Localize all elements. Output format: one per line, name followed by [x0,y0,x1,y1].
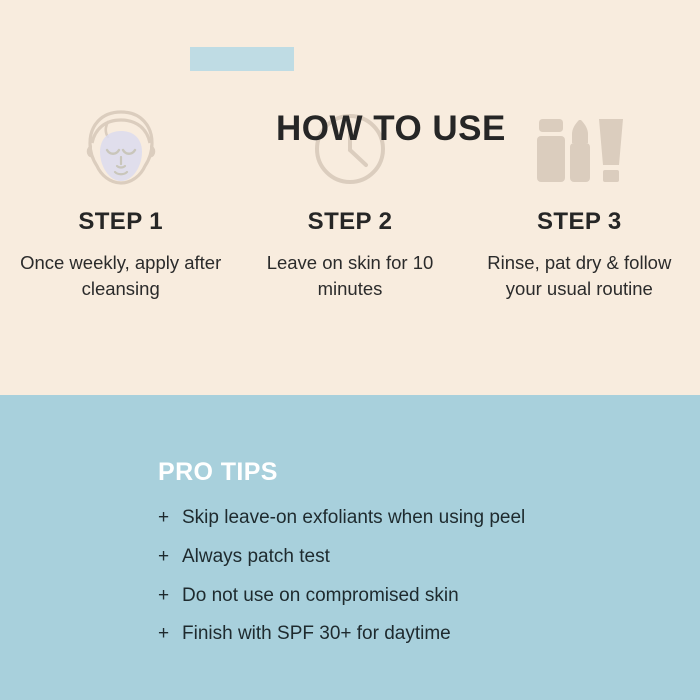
plus-bullet-icon: + [158,585,182,608]
step-1-heading: STEP 1 [12,208,229,236]
step-2-heading: STEP 2 [241,208,458,236]
page-title-text: HOW TO USE [276,109,506,148]
page-title-inner: HOW TO USE [194,41,506,181]
pro-tip-item: + Do not use on compromised skin [158,585,660,608]
pro-tip-text: Do not use on compromised skin [182,585,459,608]
page-title: HOW TO USE [0,41,700,81]
pro-tips-title: PRO TIPS [158,458,660,487]
plus-bullet-icon: + [158,507,182,530]
step-3-heading: STEP 3 [471,208,688,236]
title-highlight-bar [190,47,294,71]
pro-tips-inner: PRO TIPS + Skip leave-on exfoliants when… [158,458,660,662]
step-2-description: Leave on skin for 10 minutes [241,250,458,303]
pro-tip-item: + Skip leave-on exfoliants when using pe… [158,507,660,530]
pro-tip-text: Always patch test [182,546,330,569]
plus-bullet-icon: + [158,623,182,646]
plus-bullet-icon: + [158,546,182,569]
step-1-description: Once weekly, apply after cleansing [12,250,229,303]
pro-tip-item: + Finish with SPF 30+ for daytime [158,623,660,646]
face-mask-icon [75,103,167,195]
how-to-use-section: HOW TO USE [0,0,700,395]
pro-tip-text: Finish with SPF 30+ for daytime [182,623,451,646]
pro-tips-section: PRO TIPS + Skip leave-on exfoliants when… [0,395,700,700]
how-to-use-infographic: HOW TO USE [0,0,700,700]
pro-tip-item: + Always patch test [158,546,660,569]
pro-tip-text: Skip leave-on exfoliants when using peel [182,507,525,530]
step-3-description: Rinse, pat dry & follow your usual routi… [471,250,688,303]
skincare-bottles-icon [527,103,631,195]
